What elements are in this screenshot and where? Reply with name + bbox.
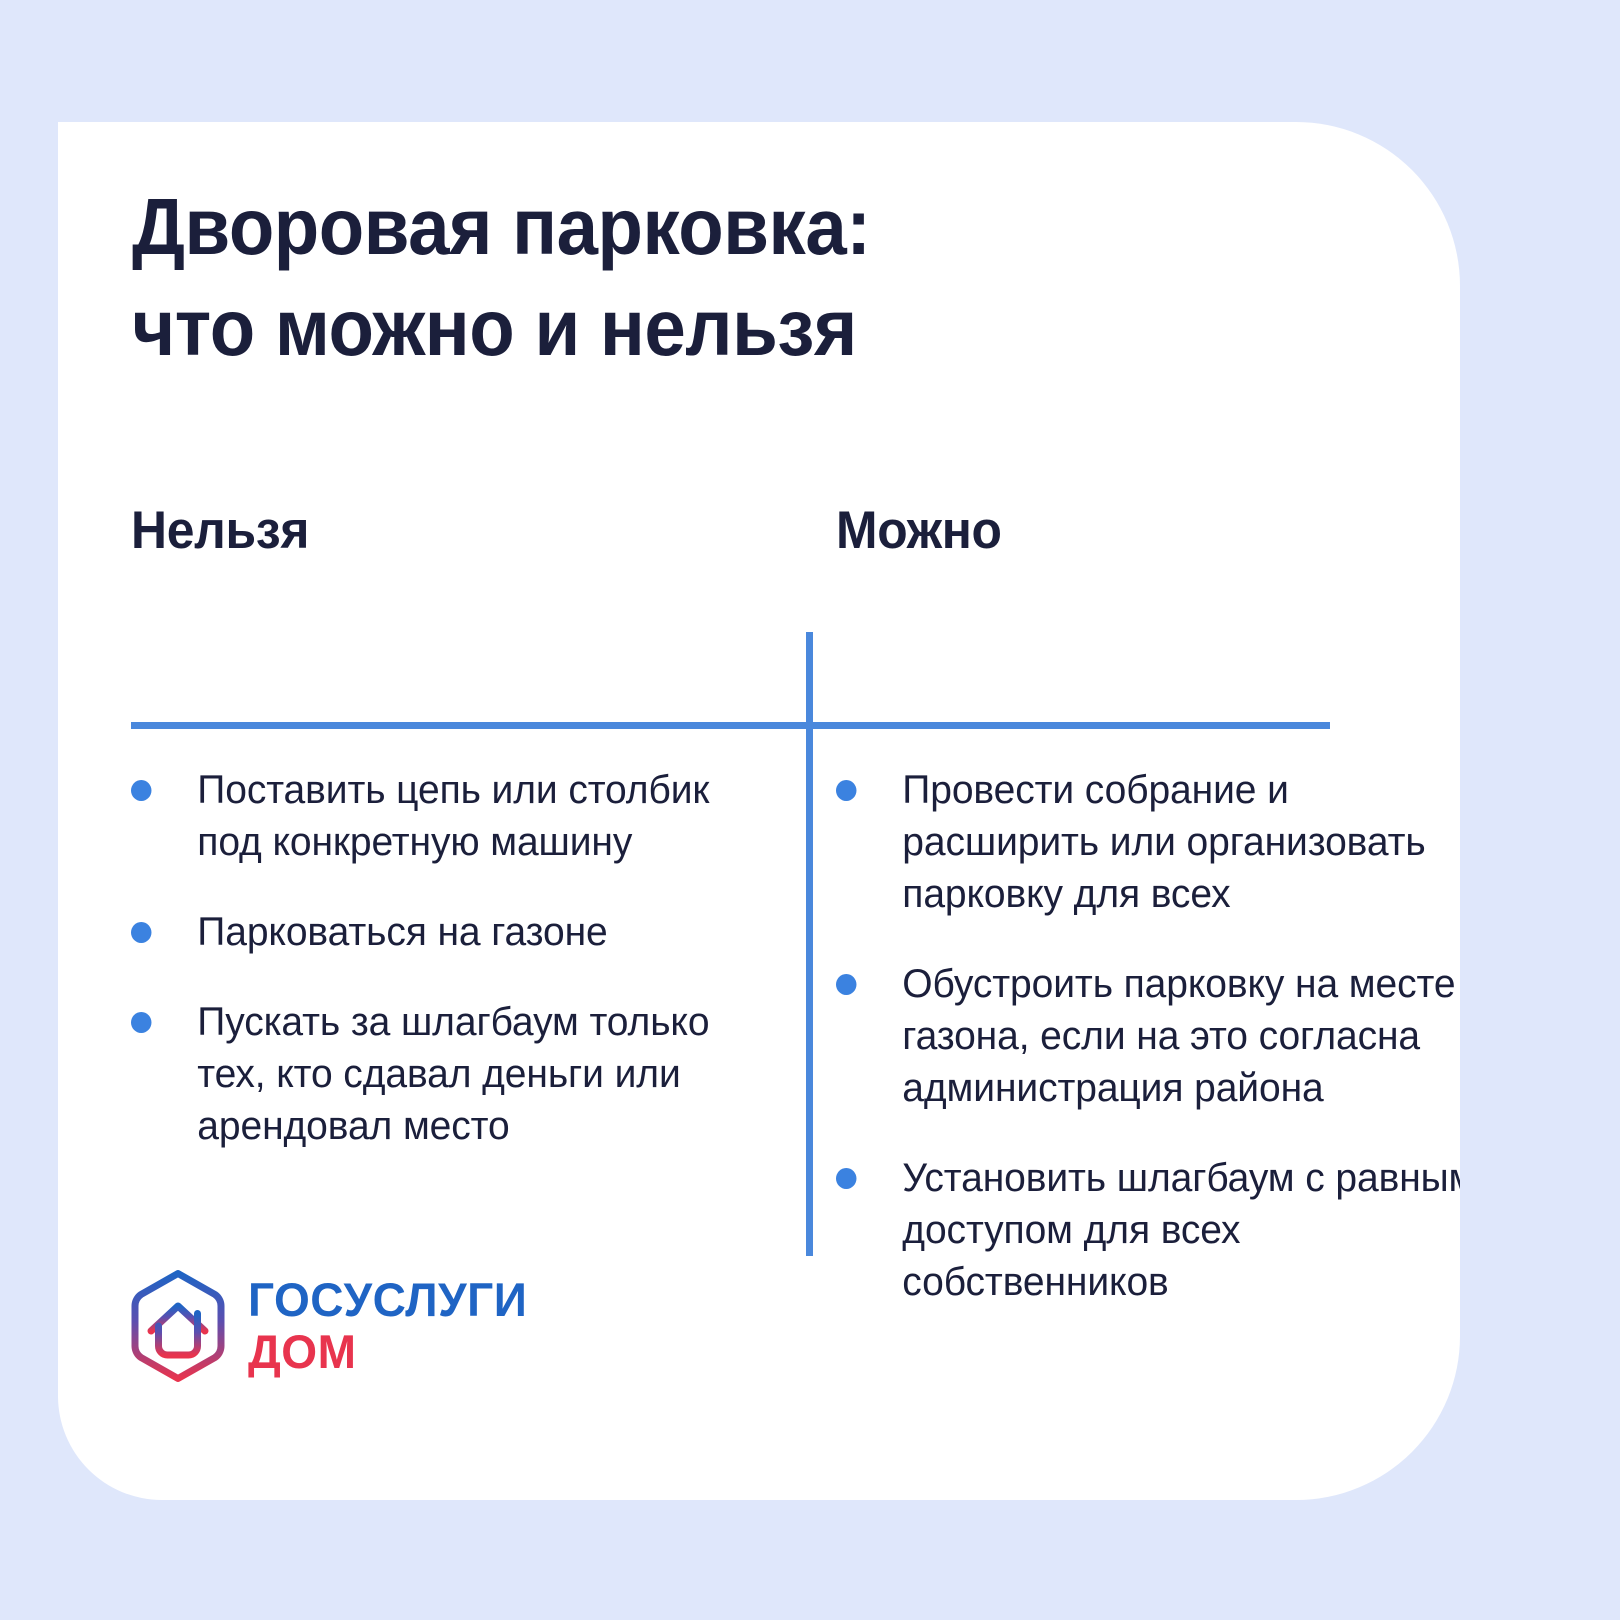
page-title: Дворовая парковка: что можно и нельзя <box>132 177 1392 379</box>
list-item: Пускать за шлагбаум только тех, кто сдав… <box>131 996 755 1152</box>
allowed-list: Провести собрание и расширить или органи… <box>836 764 1460 1308</box>
house-hexagon-icon <box>126 1268 230 1384</box>
list-item: Обустроить парковку на месте газона, есл… <box>836 958 1460 1114</box>
list-item: Установить шлагбаум с равным доступом дл… <box>836 1152 1460 1308</box>
column-heading-prohibited: Нельзя <box>131 500 309 561</box>
list-item: Провести собрание и расширить или органи… <box>836 764 1460 920</box>
list-item: Поставить цепь или столбик под конкретну… <box>131 764 755 868</box>
comparison-columns: Нельзя Можно Поставить цепь или столбик … <box>58 500 1460 1290</box>
list-item: Парковаться на газоне <box>131 906 755 958</box>
logo-word-gosuslugi: ГОСУСЛУГИ <box>248 1276 527 1324</box>
prohibited-list: Поставить цепь или столбик под конкретну… <box>131 764 771 1152</box>
gosuslugi-dom-logo: ГОСУСЛУГИ ДОМ <box>126 1268 533 1384</box>
page-title-line-1: Дворовая парковка: <box>132 177 1304 278</box>
logo-wordmark: ГОСУСЛУГИ ДОМ <box>248 1276 533 1376</box>
page-title-line-2: что можно и нельзя <box>132 278 1304 379</box>
column-heading-allowed: Можно <box>836 500 1002 561</box>
vertical-divider <box>806 632 813 1256</box>
info-card: Дворовая парковка: что можно и нельзя Не… <box>58 122 1460 1500</box>
horizontal-divider <box>131 722 1330 729</box>
logo-word-dom: ДОМ <box>248 1328 527 1376</box>
